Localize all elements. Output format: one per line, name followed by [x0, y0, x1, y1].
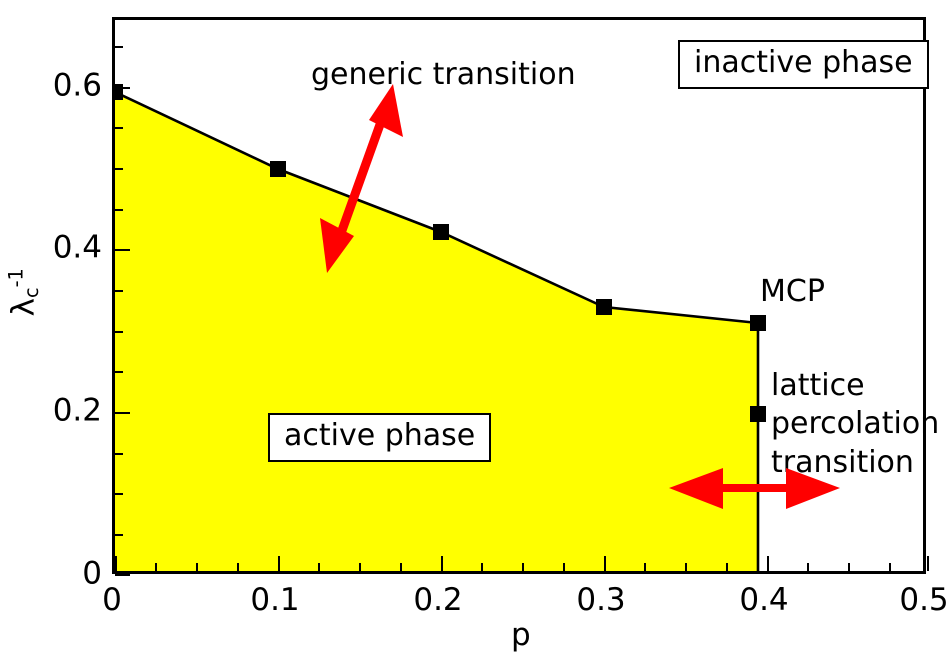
xticklabel-1: 0.1: [250, 585, 299, 616]
yticklabel-0: 0: [58, 559, 102, 590]
ytick-minor: [115, 331, 123, 333]
data-point-marker: [750, 315, 766, 331]
xtick-minor: [400, 563, 402, 571]
xticklabel-4: 0.4: [739, 585, 788, 616]
xtick-minor: [644, 563, 646, 571]
xtick-minor: [685, 563, 687, 571]
xtick-minor: [196, 563, 198, 571]
xtick-minor: [726, 563, 728, 571]
ytick-major: [115, 574, 130, 576]
ytick-minor: [115, 46, 123, 48]
xtick-major: [927, 556, 929, 571]
xtick-major: [604, 556, 606, 571]
xtick-minor: [563, 563, 565, 571]
data-point-marker: [750, 406, 766, 422]
xticklabel-3: 0.3: [576, 585, 625, 616]
xtick-minor: [522, 563, 524, 571]
ytick-minor: [115, 290, 123, 292]
xticklabel-0: 0: [102, 585, 122, 616]
data-point-marker: [433, 224, 449, 240]
active-phase-region: [115, 92, 758, 571]
ytick-minor: [115, 453, 123, 455]
ytick-minor: [115, 127, 123, 129]
lattice-percolation-line-1: lattice: [771, 367, 939, 405]
ytick-major: [115, 87, 130, 89]
xticklabel-2: 0.2: [413, 585, 462, 616]
xticklabel-5: 0.5: [899, 585, 948, 616]
data-point-marker: [596, 299, 612, 315]
ytick-minor: [115, 493, 123, 495]
active-phase-label: active phase: [268, 413, 491, 462]
xtick-minor: [318, 563, 320, 571]
yticklabel-0p2: 0.2: [23, 396, 102, 427]
xtick-major: [767, 556, 769, 571]
xtick-minor: [848, 563, 850, 571]
y-axis-label-sup: -1: [5, 268, 28, 287]
xtick-minor: [807, 563, 809, 571]
ytick-minor: [115, 209, 123, 211]
x-axis-label: p: [511, 620, 531, 651]
xtick-minor: [889, 563, 891, 571]
active-phase-text: active phase: [284, 418, 475, 453]
xtick-minor: [237, 563, 239, 571]
y-axis-label: λc-1: [7, 242, 42, 342]
y-axis-label-base: λ: [5, 298, 41, 316]
xtick-major: [115, 556, 117, 571]
ytick-minor: [115, 168, 123, 170]
ytick-minor: [115, 371, 123, 373]
mcp-label: MCP: [760, 277, 825, 307]
yticklabel-0p6: 0.6: [23, 71, 102, 102]
lattice-percolation-line-3: transition: [771, 444, 939, 482]
xtick-major: [278, 556, 280, 571]
ytick-major: [115, 412, 130, 414]
generic-transition-label: generic transition: [311, 60, 576, 90]
ytick-major: [115, 249, 130, 251]
xtick-minor: [359, 563, 361, 571]
phase-diagram-figure: inactive phase active phase generic tran…: [0, 0, 949, 652]
xtick-minor: [155, 563, 157, 571]
data-point-marker: [270, 161, 286, 177]
lattice-percolation-line-2: percolation: [771, 405, 939, 443]
inactive-phase-label: inactive phase: [678, 40, 929, 89]
y-axis-label-sub: c: [20, 287, 43, 298]
inactive-phase-text: inactive phase: [694, 45, 913, 80]
plot-area: inactive phase active phase generic tran…: [112, 17, 926, 574]
xtick-minor: [481, 563, 483, 571]
ytick-minor: [115, 534, 123, 536]
xtick-major: [441, 556, 443, 571]
lattice-percolation-transition-label: lattice percolation transition: [771, 367, 939, 482]
